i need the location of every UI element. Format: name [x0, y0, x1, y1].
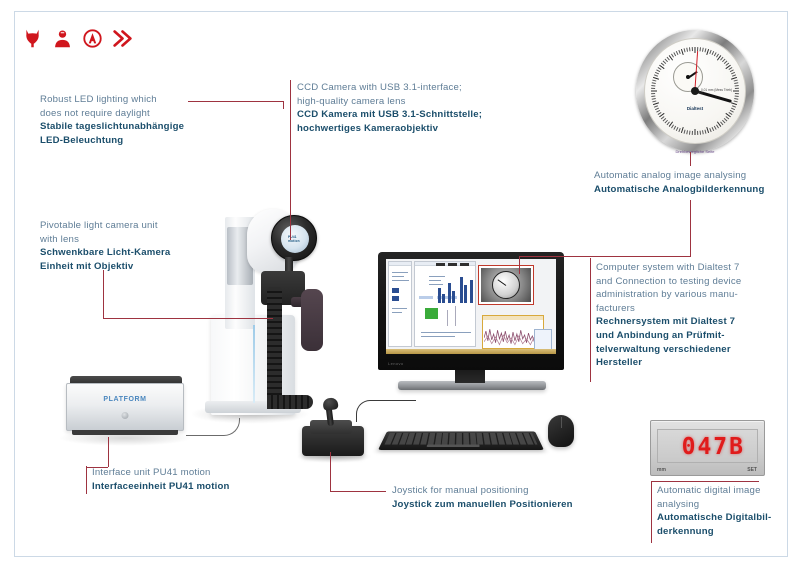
gripper-head	[301, 289, 323, 351]
callout-digital-image-analysing: Automatic digital image analysing Automa…	[657, 484, 789, 538]
callout-pivotable-en-1: with lens	[40, 233, 220, 247]
interface-unit-feet	[72, 430, 178, 435]
callout-computer-en-3: facturers	[596, 302, 796, 316]
dial-brand-logo: Dialtest	[687, 106, 703, 111]
mouse-device	[548, 415, 574, 447]
callout-computer-en-0: Computer system with Dialtest 7	[596, 261, 796, 275]
measuring-machine: PU41 motion	[205, 205, 365, 420]
joystick-knob	[322, 397, 338, 411]
subdial-hub	[686, 75, 690, 79]
callout-ccd-camera-en-0: CCD Camera with USB 3.1-interface;	[297, 81, 517, 95]
callout-led-lighting-en-0: Robust LED lighting which	[40, 93, 230, 107]
leader-pivotable-h	[103, 318, 273, 319]
callout-digital-en-0: Automatic digital image	[657, 484, 789, 498]
leader-digital-h	[651, 481, 759, 482]
callout-computer-de-3: Hersteller	[596, 356, 796, 370]
callout-ccd-camera-en-1: high-quality camera lens	[297, 95, 517, 109]
dial-tick-minor	[688, 131, 689, 135]
leader-analog-down-v	[690, 200, 691, 256]
leader-analog-gauge-v	[690, 152, 691, 166]
keyboard-device	[378, 431, 544, 450]
dial-tick-minor	[735, 94, 739, 95]
interface-unit-knob	[122, 412, 129, 419]
dial-tick-minor	[709, 129, 711, 133]
machine-accent-stripe	[253, 325, 255, 403]
leader-computer-system-bar	[590, 258, 591, 382]
analog-dial-gauge: 0,01 mm (Mess Trieb) Dialtest Drehbewegl…	[636, 30, 754, 152]
camera-view-needle	[498, 279, 507, 286]
leader-pivotable-v	[103, 270, 104, 318]
callout-computer-en-1: and Connection to testing device	[596, 275, 796, 289]
leader-interface-unit-v	[108, 437, 109, 467]
cable-drag-chain	[267, 287, 282, 405]
software-sidebar-panel	[388, 261, 412, 347]
camera-view-dial	[492, 271, 520, 299]
leader-led-lighting-v	[283, 101, 284, 109]
callout-led-lighting: Robust LED lighting which does not requi…	[40, 93, 230, 147]
dial-caption: Drehbewegliche Seite	[676, 149, 715, 154]
callout-computer-de-2: telverwaltung verschiedener	[596, 343, 796, 357]
monitor-stand-neck	[455, 369, 485, 383]
digital-measuring-display: 047B mm SET	[650, 420, 765, 476]
callout-led-lighting-de-1: LED-Beleuchtung	[40, 134, 230, 148]
camera-lens-glass: PU41 motion	[281, 225, 309, 253]
dial-face: 0,01 mm (Mess Trieb) Dialtest	[644, 38, 746, 144]
callout-joystick: Joystick for manual positioning Joystick…	[392, 484, 622, 511]
dial-tick-minor	[652, 82, 656, 84]
dial-tick-minor	[704, 130, 706, 134]
computer-monitor: Lenovo	[378, 252, 564, 370]
callout-digital-en-1: analysing	[657, 498, 789, 512]
leader-monitor-inset-v	[519, 256, 520, 274]
callout-analog-de-0: Automatische Analogbilderkennung	[594, 183, 794, 197]
dial-tick-minor	[692, 47, 693, 51]
leader-interface-unit-bar	[86, 466, 87, 494]
dial-tick-minor	[702, 131, 704, 135]
callout-interface-en-0: Interface unit PU41 motion	[92, 466, 302, 480]
digital-lcd-panel: 047B	[657, 429, 758, 463]
callout-led-lighting-de-0: Stabile tageslichtunabhängige	[40, 120, 230, 134]
software-mini-window	[534, 329, 552, 351]
digital-unit-label: mm	[657, 467, 666, 473]
leader-ccd-camera	[290, 80, 291, 240]
callout-analog-image-analysing: Automatic analog image analysing Automat…	[594, 169, 794, 196]
dial-tick-minor	[652, 98, 656, 100]
monitor-brand-label: Lenovo	[388, 361, 404, 366]
callout-digital-de-1: derkennung	[657, 525, 789, 539]
callout-computer-de-1: und Anbindung an Prüfmit-	[596, 329, 796, 343]
dial-tick-major	[695, 47, 696, 53]
digital-set-label: SET	[747, 467, 757, 473]
diagram-page: 0,01 mm (Mess Trieb) Dialtest Drehbewegl…	[0, 0, 800, 568]
dial-tick-minor	[711, 128, 713, 132]
dial-tick-major	[651, 90, 657, 91]
monitor-screen	[386, 259, 556, 354]
leader-joystick-v	[330, 452, 331, 491]
keyboard-spacebar	[427, 445, 480, 447]
interface-unit-body: PLATFORM	[66, 383, 184, 431]
callout-led-lighting-en-1: does not require daylight	[40, 107, 230, 121]
callout-ccd-camera: CCD Camera with USB 3.1-interface; high-…	[297, 81, 517, 135]
digital-value: 047B	[682, 434, 745, 460]
dial-tick-minor	[699, 131, 700, 135]
leader-joystick-h	[330, 491, 386, 492]
callout-ccd-camera-de-1: hochwertiges Kameraobjektiv	[297, 122, 517, 136]
callout-pivotable-de-0: Schwenkbare Licht-Kamera	[40, 246, 220, 260]
dial-tick-major	[694, 129, 695, 135]
dial-tick-minor	[651, 95, 655, 96]
dial-tick-minor	[691, 131, 692, 135]
callout-pivotable-camera-unit: Pivotable light camera unit with lens Sc…	[40, 219, 220, 273]
dial-tick-minor	[689, 47, 690, 51]
mouse-button-split	[561, 417, 562, 428]
interface-unit-brand: PLATFORM	[103, 396, 146, 403]
callout-computer-de-0: Rechnersystem mit Dialtest 7	[596, 315, 796, 329]
machine-to-interface-cable	[186, 418, 240, 436]
callout-analog-en-0: Automatic analog image analysing	[594, 169, 794, 183]
callout-joystick-en-0: Joystick for manual positioning	[392, 484, 622, 498]
callout-pivotable-en-0: Pivotable light camera unit	[40, 219, 220, 233]
callout-computer-system: Computer system with Dialtest 7 and Conn…	[596, 261, 796, 370]
callout-interface-unit: Interface unit PU41 motion Interfaceeinh…	[92, 466, 302, 493]
interface-unit-box: PLATFORM	[66, 376, 184, 438]
dial-tick-major	[653, 102, 659, 105]
dial-tick-minor	[652, 79, 656, 81]
dial-tick-major	[733, 91, 739, 92]
callout-digital-de-0: Automatische Digitalbil-	[657, 511, 789, 525]
leader-analog-to-monitor-h	[519, 256, 691, 257]
dial-hub	[691, 87, 699, 95]
dial-tick-minor	[652, 100, 656, 102]
callout-interface-de-0: Interfaceeinheit PU41 motion	[92, 480, 302, 494]
software-chart-area	[436, 261, 476, 305]
dial-tick-minor	[735, 88, 739, 89]
dial-tick-minor	[735, 85, 739, 86]
dial-tick-minor	[686, 131, 688, 135]
callout-pivotable-de-1: Einheit mit Objektiv	[40, 260, 220, 274]
dial-tick-minor	[651, 84, 655, 85]
leader-digital-bar	[651, 481, 652, 543]
dial-tick-minor	[651, 93, 655, 94]
dial-small-text: 0,01 mm (Mess Trieb)	[701, 88, 732, 92]
dial-tick-minor	[683, 130, 685, 134]
camera-lens: PU41 motion	[271, 215, 317, 261]
camera-live-view-inset	[478, 265, 534, 305]
keyboard-cable	[356, 400, 416, 422]
dial-tick-minor	[651, 87, 655, 88]
callout-computer-en-2: administration by various manu-	[596, 288, 796, 302]
callout-joystick-de-0: Joystick zum manuellen Positionieren	[392, 498, 622, 512]
joystick-device	[302, 404, 364, 460]
dial-tick-minor	[697, 131, 698, 135]
callout-ccd-camera-de-0: CCD Kamera mit USB 3.1-Schnittstelle;	[297, 108, 517, 122]
keyboard-keys	[384, 433, 537, 445]
dial-subdial	[673, 62, 703, 92]
software-taskbar	[386, 349, 556, 354]
